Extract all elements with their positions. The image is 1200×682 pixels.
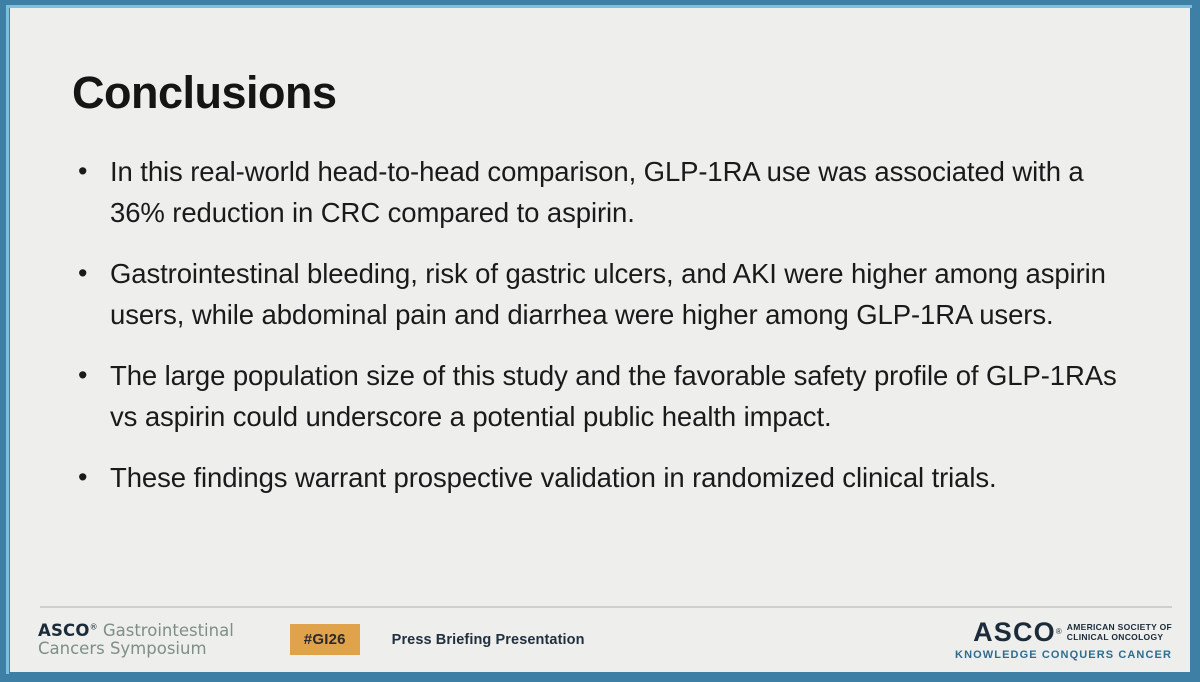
hashtag-badge: #GI26	[290, 624, 360, 655]
slide-frame: Conclusions • In this real-world head-to…	[0, 0, 1200, 682]
bullet-text: In this real-world head-to-head comparis…	[110, 151, 1132, 233]
registered-trademark-icon: ®	[90, 622, 98, 631]
press-briefing-label: Press Briefing Presentation	[392, 632, 585, 648]
conclusions-bullet-list: • In this real-world head-to-head compar…	[10, 115, 1190, 594]
gi-symposium-logo: ASCO® Gastrointestinal Cancers Symposium	[38, 622, 234, 659]
registered-trademark-icon: ®	[1056, 628, 1062, 636]
footer-content: ASCO® Gastrointestinal Cancers Symposium…	[38, 618, 1172, 662]
bullet-point-icon: •	[72, 253, 110, 294]
asco-society-name: AMERICAN SOCIETY OF CLINICAL ONCOLOGY	[1067, 622, 1172, 643]
asco-wordmark: ASCO	[973, 618, 1056, 646]
bullet-point-icon: •	[72, 457, 110, 498]
symposium-asco-wordmark: ASCO	[38, 621, 90, 640]
asco-tagline: KNOWLEDGE CONQUERS CANCER	[955, 650, 1172, 662]
symposium-logo-line-1: ASCO® Gastrointestinal	[38, 622, 234, 640]
asco-logo-top-row: ASCO® AMERICAN SOCIETY OF CLINICAL ONCOL…	[955, 618, 1172, 646]
list-item: • In this real-world head-to-head compar…	[72, 151, 1132, 233]
slide-footer: ASCO® Gastrointestinal Cancers Symposium…	[10, 594, 1190, 672]
asco-corporate-logo: ASCO® AMERICAN SOCIETY OF CLINICAL ONCOL…	[955, 618, 1172, 662]
page-title: Conclusions	[10, 8, 1190, 115]
list-item: • These findings warrant prospective val…	[72, 457, 1132, 498]
bullet-text: The large population size of this study …	[110, 355, 1132, 437]
asco-society-line-1: AMERICAN SOCIETY OF	[1067, 622, 1172, 632]
footer-divider	[40, 606, 1172, 608]
list-item: • Gastrointestinal bleeding, risk of gas…	[72, 253, 1132, 335]
symposium-logo-line-2: Cancers Symposium	[38, 640, 234, 658]
slide-canvas: Conclusions • In this real-world head-to…	[10, 8, 1190, 672]
bullet-text: These findings warrant prospective valid…	[110, 457, 1132, 498]
asco-society-line-2: CLINICAL ONCOLOGY	[1067, 632, 1164, 642]
bullet-text: Gastrointestinal bleeding, risk of gastr…	[110, 253, 1132, 335]
bullet-point-icon: •	[72, 151, 110, 192]
symposium-logo-gastrointestinal: Gastrointestinal	[103, 621, 234, 640]
bullet-point-icon: •	[72, 355, 110, 396]
list-item: • The large population size of this stud…	[72, 355, 1132, 437]
